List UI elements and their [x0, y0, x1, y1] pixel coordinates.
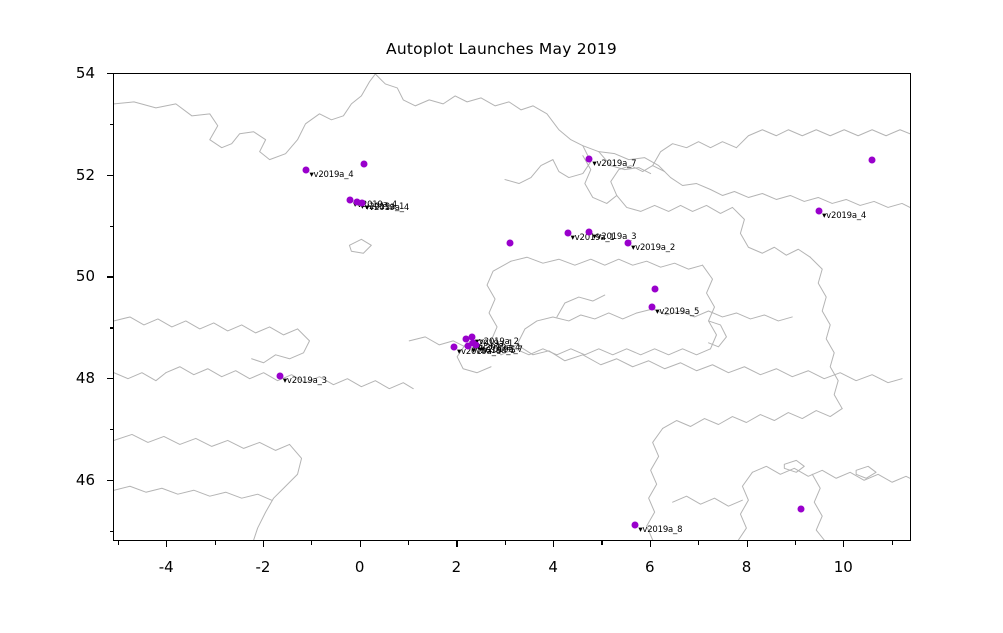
y-tick-label: 50 [0, 267, 95, 285]
x-tick [360, 541, 361, 547]
y-tick [107, 73, 113, 74]
y-tick [107, 276, 113, 277]
x-tick-minor [601, 541, 602, 545]
x-tick-minor [795, 541, 796, 545]
y-tick-minor [110, 531, 114, 532]
plot-area[interactable] [113, 73, 911, 541]
x-tick-label: 6 [645, 558, 655, 576]
x-tick [650, 541, 651, 547]
scatter-point-label: ▾v2019a_5 [471, 346, 515, 356]
scatter-point[interactable] [361, 160, 368, 167]
y-tick-minor [110, 327, 114, 328]
x-tick-minor [892, 541, 893, 545]
scatter-point-label: ▾v2019a_8 [638, 525, 682, 535]
x-tick-minor [698, 541, 699, 545]
y-tick-minor [110, 226, 114, 227]
y-tick-minor [110, 429, 114, 430]
scatter-point[interactable] [651, 286, 658, 293]
scatter-point-label: ▾v2019a_4 [822, 211, 866, 221]
x-tick-label: 2 [452, 558, 462, 576]
x-tick [843, 541, 844, 547]
x-tick-minor [215, 541, 216, 545]
x-tick-minor [505, 541, 506, 545]
scatter-point-label: ▾v2019a_4 [309, 170, 353, 180]
y-tick-label: 48 [0, 369, 95, 387]
scatter-point-label: ▾v2019a_5 [655, 307, 699, 317]
x-tick-minor [311, 541, 312, 545]
x-tick-label: -2 [255, 558, 270, 576]
scatter-point-label: ▾v2019a_2 [631, 243, 675, 253]
x-tick [263, 541, 264, 547]
scatter-point[interactable] [506, 240, 513, 247]
scatter-point-label: ▾v2019a_4 [365, 203, 409, 213]
x-tick-label: 10 [834, 558, 853, 576]
scatter-point-label: ▾v2019a_3 [283, 376, 327, 386]
scatter-point[interactable] [869, 157, 876, 164]
x-tick-minor [408, 541, 409, 545]
x-tick-label: -4 [159, 558, 174, 576]
map-coastlines [114, 74, 910, 540]
scatter-point[interactable] [797, 506, 804, 513]
x-tick-label: 0 [355, 558, 365, 576]
y-tick-minor [110, 124, 114, 125]
figure-canvas: Autoplot Launches May 2019 [0, 0, 1003, 633]
x-tick-minor [118, 541, 119, 545]
y-tick [107, 378, 113, 379]
y-tick [107, 175, 113, 176]
y-tick [107, 480, 113, 481]
page-title: Autoplot Launches May 2019 [0, 40, 1003, 58]
x-tick-label: 4 [548, 558, 558, 576]
y-tick-label: 54 [0, 64, 95, 82]
x-tick [166, 541, 167, 547]
x-tick [747, 541, 748, 547]
x-tick [553, 541, 554, 547]
x-tick-label: 8 [742, 558, 752, 576]
scatter-point-label: ▾v2019a_7 [592, 159, 636, 169]
y-tick-label: 46 [0, 471, 95, 489]
y-tick-label: 52 [0, 166, 95, 184]
x-tick [456, 541, 457, 547]
